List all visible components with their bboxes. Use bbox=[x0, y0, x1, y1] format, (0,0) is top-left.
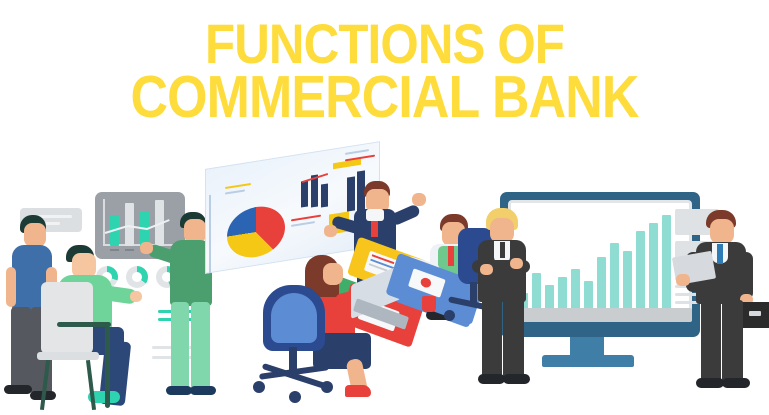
monitor-foot bbox=[542, 355, 634, 367]
head bbox=[24, 223, 46, 247]
office-chair bbox=[35, 282, 113, 412]
left-leg bbox=[482, 298, 502, 378]
left-leg bbox=[701, 300, 721, 382]
chair-back bbox=[41, 282, 93, 354]
right-hand bbox=[412, 193, 426, 206]
board-bar-3 bbox=[321, 183, 328, 207]
caster-1 bbox=[253, 381, 265, 393]
right-arm bbox=[738, 252, 753, 300]
left-hand bbox=[676, 274, 690, 286]
page-title: FUNCTIONS OF COMMERCIAL BANK bbox=[0, 18, 769, 125]
mbar-9 bbox=[623, 251, 632, 315]
mbar-7 bbox=[597, 257, 606, 315]
chair-leg-left bbox=[40, 360, 50, 410]
caster-1 bbox=[444, 310, 455, 321]
mbar-8 bbox=[610, 243, 619, 315]
tie-blue bbox=[717, 244, 723, 264]
right-monitor-scene bbox=[470, 180, 769, 415]
chair-seat bbox=[37, 352, 99, 360]
chart-y-axis bbox=[103, 199, 105, 245]
chair-frame bbox=[105, 326, 110, 408]
briefcase-latch bbox=[749, 311, 761, 316]
mbar-12 bbox=[662, 215, 671, 315]
tie bbox=[500, 242, 505, 258]
red-mug bbox=[422, 296, 436, 312]
right-shoe bbox=[722, 378, 750, 388]
right-shoe bbox=[503, 374, 530, 384]
right-leg bbox=[503, 298, 524, 378]
left-shoe bbox=[166, 386, 192, 395]
mbar-10 bbox=[636, 231, 645, 315]
left-hand bbox=[324, 225, 337, 237]
title-line-1: FUNCTIONS OF bbox=[46, 18, 723, 70]
standing-man-arms-crossed bbox=[470, 208, 536, 396]
left-arm bbox=[6, 267, 16, 307]
chair-cushion bbox=[271, 293, 317, 343]
head bbox=[323, 263, 343, 285]
left-leg bbox=[11, 307, 31, 389]
left-shoe bbox=[478, 374, 505, 384]
chair-leg-right bbox=[86, 360, 96, 410]
shirt-collar bbox=[366, 209, 384, 221]
board-bar-1 bbox=[301, 180, 308, 207]
left-leg bbox=[171, 302, 189, 390]
pointing-hand bbox=[140, 242, 153, 254]
office-chair-blue bbox=[253, 285, 355, 403]
chair-armrest bbox=[57, 322, 111, 327]
caster-2 bbox=[321, 381, 333, 393]
caster-3 bbox=[289, 391, 301, 403]
title-line-2: COMMERCIAL BANK bbox=[46, 70, 723, 125]
businessman-with-briefcase bbox=[688, 210, 768, 400]
left-shoe bbox=[696, 378, 724, 388]
monitor-neck bbox=[570, 337, 604, 357]
hand-right bbox=[510, 258, 523, 269]
hand-left bbox=[480, 264, 493, 275]
mbar-11 bbox=[649, 223, 658, 315]
right-leg bbox=[722, 300, 743, 382]
right-hand bbox=[130, 291, 142, 302]
left-analytics-scene bbox=[0, 170, 215, 415]
board-y-axis bbox=[209, 195, 211, 273]
right-arm-raised bbox=[389, 203, 421, 226]
left-shoe bbox=[4, 385, 32, 394]
poster-canvas: FUNCTIONS OF COMMERCIAL BANK bbox=[0, 0, 769, 415]
head bbox=[710, 219, 734, 244]
